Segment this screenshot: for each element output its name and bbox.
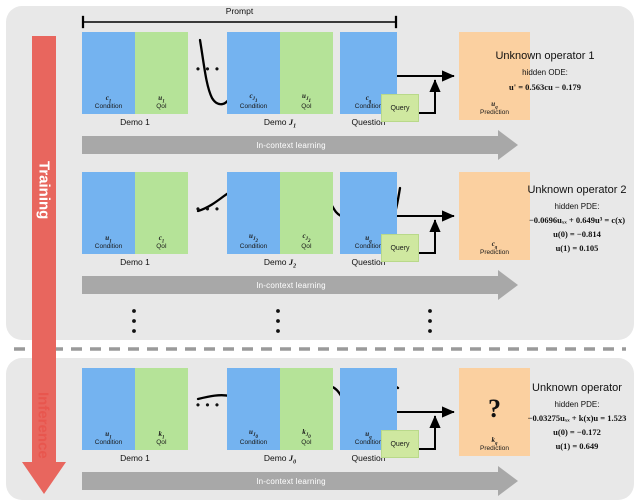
row-2-demo1-condition[interactable]: u1 Condition: [82, 172, 135, 254]
row-3-demo1-label: Demo 1: [82, 453, 188, 463]
row-2-query-box[interactable]: Query: [381, 234, 419, 262]
panel-label: uJ1 QoI: [280, 93, 333, 111]
row-2-operator-equation-2: u(0) = −0.814: [553, 229, 601, 239]
panel-label: cq Prediction: [459, 241, 530, 257]
row-3-demo1-condition[interactable]: u1 Condition: [82, 368, 135, 450]
panel-label: c1 Condition: [82, 95, 135, 111]
row-2-demoN-label: Demo J2: [227, 257, 333, 270]
row-2-icl-arrow-label: In-context learning: [82, 276, 518, 294]
inference-stage-label: Inference: [30, 370, 56, 480]
row-3-operator-equation-3: u(1) = 0.649: [556, 441, 599, 451]
panel-label: uJ2 Condition: [227, 233, 280, 251]
panel-label: u1 QoI: [135, 95, 188, 111]
row-1-icl-arrow-label: In-context learning: [82, 136, 518, 154]
panel-label: k1 QoI: [135, 431, 188, 447]
row-1-query-box[interactable]: Query: [381, 94, 419, 122]
row-2-ellipsis: • • •: [190, 202, 226, 218]
row-1-demo1-label: Demo 1: [82, 117, 188, 127]
row-1-demo1-condition[interactable]: c1 Condition: [82, 32, 135, 114]
row-1-demo1-qoi[interactable]: u1 QoI: [135, 32, 188, 114]
figure-root: Prompt Training Inference c1 Condition u…: [0, 0, 640, 504]
row-1-prediction[interactable]: uq Prediction: [459, 32, 530, 120]
panel-label: cJ2 QoI: [280, 233, 333, 251]
row-2-operator-subtitle: hidden PDE:: [555, 202, 600, 211]
row-3-prediction[interactable]: ? kq Prediction: [459, 368, 530, 456]
row-3-demoN-label: Demo J0: [227, 453, 333, 466]
panel-label: u1 Condition: [82, 235, 135, 251]
panel-label: uJ0 Condition: [227, 429, 280, 447]
row-3-operator-title: Unknown operator: [532, 382, 622, 394]
row-3-operator-equation-1: −0.03275uₓₓ + k(x)u = 1.523: [528, 413, 627, 423]
panel-label: c1 QoI: [135, 235, 188, 251]
row-1-operator-subtitle: hidden ODE:: [522, 68, 568, 77]
row-2-demo1-label: Demo 1: [82, 257, 188, 267]
row-3-demo1-qoi[interactable]: k1 QoI: [135, 368, 188, 450]
row-3-operator-equation-2: u(0) = −0.172: [553, 427, 601, 437]
row-1-ellipsis: • • •: [190, 62, 226, 78]
row-3-ellipsis: • • •: [190, 398, 226, 414]
row-1-demoN-label: Demo J1: [227, 117, 333, 130]
panel-label: u1 Condition: [82, 431, 135, 447]
panel-label: kq Prediction: [459, 437, 530, 453]
row-1-demoN-condition[interactable]: cJ1 Condition: [227, 32, 280, 114]
row-2-operator-title: Unknown operator 2: [527, 184, 626, 196]
panel-label: kJ0 QoI: [280, 429, 333, 447]
row-3-query-box[interactable]: Query: [381, 430, 419, 458]
row-3-operator-subtitle: hidden PDE:: [555, 400, 600, 409]
panel-label: uq Prediction: [459, 101, 530, 117]
row-3-icl-arrow-label: In-context learning: [82, 472, 518, 490]
row-3-demoN-qoi[interactable]: kJ0 QoI: [280, 368, 333, 450]
row-1-demoN-qoi[interactable]: uJ1 QoI: [280, 32, 333, 114]
row-2-demo1-qoi[interactable]: c1 QoI: [135, 172, 188, 254]
training-stage-label: Training: [32, 130, 56, 250]
prompt-label: Prompt: [83, 6, 396, 16]
row-3-demoN-condition[interactable]: uJ0 Condition: [227, 368, 280, 450]
row-2-demoN-qoi[interactable]: cJ2 QoI: [280, 172, 333, 254]
row-2-demoN-condition[interactable]: uJ2 Condition: [227, 172, 280, 254]
row-1-operator-title: Unknown operator 1: [495, 50, 594, 62]
row-2-prediction[interactable]: cq Prediction: [459, 172, 530, 260]
row-2-operator-equation-1: −0.0696uₓₓ + 0.649u³ = c(x): [529, 215, 625, 225]
panel-label: cJ1 Condition: [227, 93, 280, 111]
row-1-operator-equation: u' = 0.563cu − 0.179: [509, 82, 581, 92]
prediction-question-mark: ?: [459, 394, 530, 424]
row-2-operator-equation-3: u(1) = 0.105: [556, 243, 599, 253]
